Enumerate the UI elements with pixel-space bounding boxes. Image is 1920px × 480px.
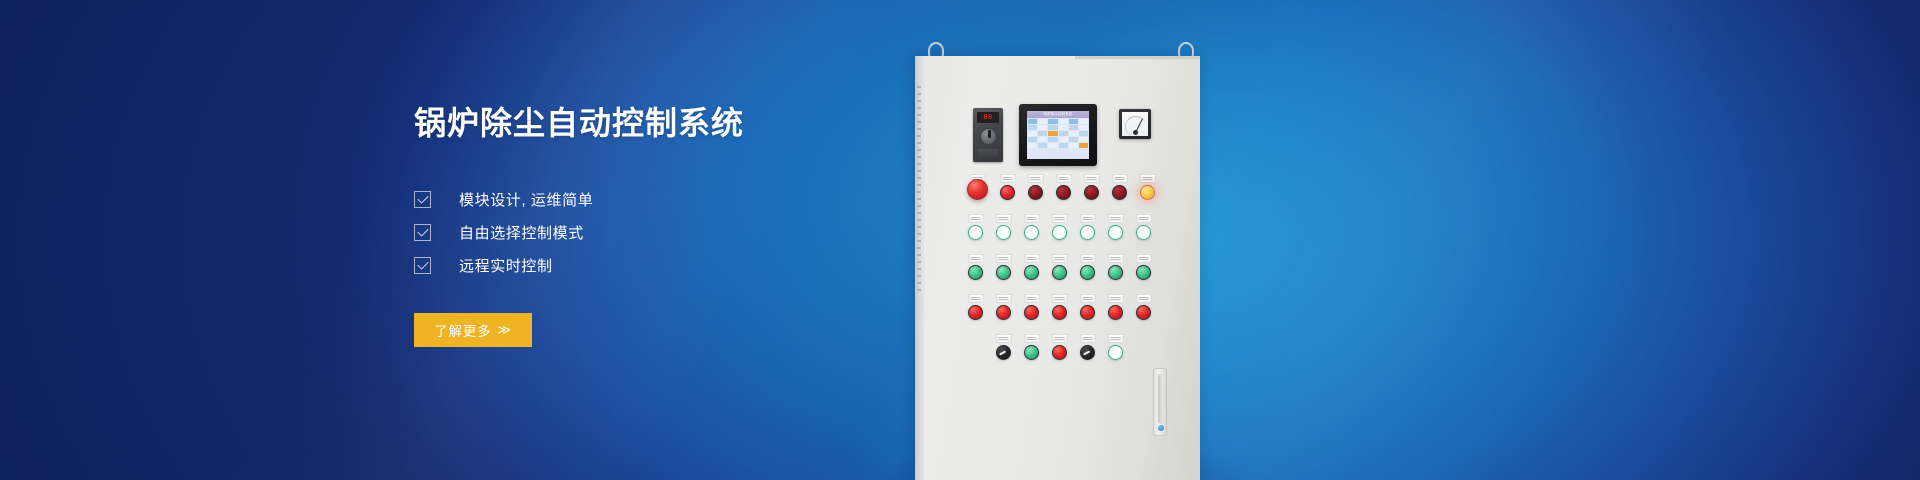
indicator-button[interactable] xyxy=(1047,334,1072,360)
indicator-button[interactable] xyxy=(1075,214,1100,240)
list-item: 远程实时控制 xyxy=(414,254,884,276)
hmi-table-cell xyxy=(1069,137,1078,142)
selector-switch[interactable] xyxy=(991,334,1016,360)
button-row-5 xyxy=(963,334,1169,360)
red-lamp-icon xyxy=(1080,305,1095,320)
hmi-screen-table xyxy=(1027,118,1089,159)
indicator-button[interactable] xyxy=(1103,294,1128,320)
cabinet-door-handle[interactable] xyxy=(1153,368,1167,436)
hmi-table-cell xyxy=(1059,131,1068,136)
hmi-table-cell xyxy=(1028,125,1037,130)
indicator-button[interactable] xyxy=(1019,334,1044,360)
dark-red-lamp-icon xyxy=(1028,185,1043,200)
controller-display: 88 xyxy=(977,112,999,123)
indicator-button[interactable] xyxy=(991,214,1016,240)
selector-knob-icon xyxy=(996,345,1011,360)
indicator-button[interactable] xyxy=(1075,254,1100,280)
green-lamp-icon xyxy=(1136,265,1151,280)
hmi-screen-title-bar: 锅炉除尘控制系统 xyxy=(1027,111,1089,118)
estop-mushroom-head-icon xyxy=(967,179,988,200)
button-label-tag xyxy=(1024,294,1039,303)
button-label-tag xyxy=(1140,174,1155,183)
button-label-tag xyxy=(1108,334,1123,343)
white-lamp-icon xyxy=(996,225,1011,240)
button-label-tag xyxy=(1024,334,1039,343)
hmi-screen: 锅炉除尘控制系统 xyxy=(1027,111,1089,159)
lock-icon[interactable] xyxy=(1158,425,1164,431)
button-label-tag xyxy=(1052,334,1067,343)
checkbox-icon xyxy=(414,191,431,208)
meter-hub xyxy=(1133,130,1138,135)
hero-banner: 锅炉除尘自动控制系统 模块设计, 运维简单 自由选择控制模式 远程实时控制 了解… xyxy=(0,0,1920,480)
hmi-table-cell xyxy=(1038,125,1047,130)
button-label-tag xyxy=(1080,214,1095,223)
hmi-table-cell xyxy=(1079,137,1088,142)
controller-terminal-block xyxy=(978,149,998,157)
handle-grip xyxy=(1158,374,1163,424)
hmi-table-cell xyxy=(1048,125,1057,130)
indicator-button[interactable] xyxy=(1079,174,1104,200)
hmi-table-cell xyxy=(1069,125,1078,130)
hmi-table-row xyxy=(1028,125,1088,130)
red-lamp-icon xyxy=(1052,305,1067,320)
button-label-tag xyxy=(1080,334,1095,343)
hmi-table-cell xyxy=(1028,119,1037,124)
hmi-table-cell xyxy=(1059,143,1068,148)
hmi-table-cell xyxy=(1079,125,1088,130)
button-label-tag xyxy=(1056,174,1071,183)
cabinet-hinge xyxy=(915,56,924,480)
hmi-screen-title: 锅炉除尘控制系统 xyxy=(1044,113,1073,116)
button-label-tag xyxy=(1080,294,1095,303)
button-label-tag xyxy=(996,254,1011,263)
hmi-table-cell xyxy=(1059,125,1068,130)
white-lamp-icon xyxy=(1052,225,1067,240)
button-row-1 xyxy=(963,174,1169,200)
hmi-table-cell xyxy=(1028,131,1037,136)
white-lamp-icon xyxy=(1024,225,1039,240)
indicator-button[interactable] xyxy=(1051,174,1076,200)
red-lamp-icon xyxy=(1000,185,1015,200)
selector-switch[interactable] xyxy=(1075,334,1100,360)
indicator-button[interactable] xyxy=(1107,174,1132,200)
button-label-tag xyxy=(1052,254,1067,263)
indicator-button[interactable] xyxy=(991,254,1016,280)
white-lamp-icon xyxy=(968,225,983,240)
hmi-table-cell xyxy=(1028,137,1037,142)
hmi-table-cell xyxy=(1038,131,1047,136)
indicator-button[interactable] xyxy=(963,294,988,320)
hmi-table-cell xyxy=(1048,137,1057,142)
button-label-tag xyxy=(1112,174,1127,183)
hmi-table-row xyxy=(1028,137,1088,142)
cabinet-body: 88 锅炉除尘控制系统 xyxy=(915,56,1200,480)
button-label-tag xyxy=(1136,214,1151,223)
hmi-table-row xyxy=(1028,119,1088,124)
indicator-button[interactable] xyxy=(1047,294,1072,320)
red-lamp-icon xyxy=(1108,305,1123,320)
indicator-button[interactable] xyxy=(1047,214,1072,240)
indicator-button[interactable] xyxy=(1019,254,1044,280)
checkbox-icon xyxy=(414,224,431,241)
indicator-button[interactable] xyxy=(991,294,1016,320)
hmi-table-cell xyxy=(1059,137,1068,142)
white-lamp-icon xyxy=(1080,225,1095,240)
hmi-table-cell xyxy=(1079,131,1088,136)
indicator-button[interactable] xyxy=(1131,294,1156,320)
white-lamp-icon xyxy=(1108,345,1123,360)
button-label-tag xyxy=(1024,214,1039,223)
digital-controller: 88 xyxy=(973,108,1003,162)
checkbox-icon xyxy=(414,257,431,274)
hmi-table-cell xyxy=(1048,119,1057,124)
button-label-tag xyxy=(1108,214,1123,223)
emergency-stop-button[interactable] xyxy=(963,174,992,200)
indicator-button[interactable] xyxy=(1103,334,1128,360)
feature-list: 模块设计, 运维简单 自由选择控制模式 远程实时控制 xyxy=(414,188,884,276)
hmi-table-cell xyxy=(1069,143,1078,148)
indicator-button[interactable] xyxy=(1019,214,1044,240)
feature-label: 自由选择控制模式 xyxy=(459,222,584,243)
button-label-tag xyxy=(1052,294,1067,303)
hmi-table-cell xyxy=(1069,131,1078,136)
red-lamp-icon xyxy=(996,305,1011,320)
hmi-table-cell xyxy=(1069,119,1078,124)
red-lamp-icon xyxy=(1052,345,1067,360)
button-label-tag xyxy=(1136,254,1151,263)
hmi-alarm-cell xyxy=(1048,131,1057,136)
controller-digits: 88 xyxy=(983,114,992,121)
button-label-tag xyxy=(1028,174,1043,183)
hinge-pin-detail xyxy=(917,86,921,296)
green-lamp-icon xyxy=(968,265,983,280)
button-label-tag xyxy=(1108,254,1123,263)
control-cabinet-image: 88 锅炉除尘控制系统 xyxy=(900,0,1230,480)
button-label-tag xyxy=(1000,174,1015,183)
hmi-table-row xyxy=(1028,143,1088,148)
button-label-tag xyxy=(996,294,1011,303)
button-label-tag xyxy=(968,294,983,303)
hmi-table-cell xyxy=(1079,119,1088,124)
indicator-button[interactable] xyxy=(1131,214,1156,240)
learn-more-label: 了解更多 xyxy=(434,320,491,340)
button-label-tag xyxy=(1052,214,1067,223)
meter-face xyxy=(1122,112,1148,136)
red-lamp-icon xyxy=(1136,305,1151,320)
button-label-tag xyxy=(1084,174,1099,183)
green-lamp-icon xyxy=(1052,265,1067,280)
button-grid xyxy=(963,174,1169,374)
green-lamp-icon xyxy=(1024,265,1039,280)
hmi-table-cell xyxy=(1048,143,1057,148)
indicator-button[interactable] xyxy=(1135,174,1160,200)
white-lamp-icon xyxy=(1108,225,1123,240)
indicator-button[interactable] xyxy=(963,214,988,240)
hmi-table-cell xyxy=(1038,137,1047,142)
dark-red-lamp-icon xyxy=(1112,185,1127,200)
chevron-right-icon: ≫ xyxy=(497,322,511,338)
button-row-3 xyxy=(963,254,1169,280)
green-lamp-icon xyxy=(1080,265,1095,280)
indicator-button[interactable] xyxy=(1103,254,1128,280)
instrument-row: 88 锅炉除尘控制系统 xyxy=(973,104,1178,166)
hmi-table-cell xyxy=(1038,143,1047,148)
red-lamp-icon xyxy=(968,305,983,320)
button-label-tag xyxy=(1080,254,1095,263)
feature-label: 远程实时控制 xyxy=(459,255,553,276)
button-row-4 xyxy=(963,294,1169,320)
button-label-tag xyxy=(996,334,1011,343)
cabinet-lid-seam xyxy=(1075,56,1200,59)
indicator-button[interactable] xyxy=(1131,254,1156,280)
selector-knob-icon xyxy=(1080,345,1095,360)
page-title: 锅炉除尘自动控制系统 xyxy=(414,104,884,142)
feature-label: 模块设计, 运维简单 xyxy=(459,189,593,210)
green-lamp-icon xyxy=(1108,265,1123,280)
hmi-table-row xyxy=(1028,131,1088,136)
list-item: 模块设计, 运维简单 xyxy=(414,188,884,210)
button-label-tag xyxy=(1024,254,1039,263)
hmi-touch-panel: 锅炉除尘控制系统 xyxy=(1019,104,1097,166)
hmi-table-cell xyxy=(1028,143,1037,148)
button-label-tag xyxy=(1108,294,1123,303)
button-row-2 xyxy=(963,214,1169,240)
indicator-button[interactable] xyxy=(1019,294,1044,320)
white-lamp-icon xyxy=(1136,225,1151,240)
indicator-button[interactable] xyxy=(1075,294,1100,320)
green-lamp-icon xyxy=(996,265,1011,280)
dark-red-lamp-icon xyxy=(1056,185,1071,200)
button-label-tag xyxy=(968,214,983,223)
red-lamp-icon xyxy=(1024,305,1039,320)
indicator-button[interactable] xyxy=(1023,174,1048,200)
dark-red-lamp-icon xyxy=(1084,185,1099,200)
indicator-button[interactable] xyxy=(995,174,1020,200)
button-label-tag xyxy=(996,214,1011,223)
indicator-button[interactable] xyxy=(1047,254,1072,280)
indicator-button[interactable] xyxy=(1103,214,1128,240)
hmi-table-cell xyxy=(1038,119,1047,124)
list-item: 自由选择控制模式 xyxy=(414,221,884,243)
green-lamp-icon xyxy=(1024,345,1039,360)
amber-lamp-icon xyxy=(1140,185,1155,200)
indicator-button[interactable] xyxy=(963,254,988,280)
hero-copy-block: 锅炉除尘自动控制系统 模块设计, 运维简单 自由选择控制模式 远程实时控制 了解… xyxy=(414,104,884,347)
analog-panel-meter xyxy=(1119,109,1151,139)
button-label-tag xyxy=(968,254,983,263)
hmi-alarm-cell xyxy=(1079,143,1088,148)
learn-more-button[interactable]: 了解更多 ≫ xyxy=(414,313,532,347)
hmi-table-cell xyxy=(1059,119,1068,124)
button-label-tag xyxy=(1136,294,1151,303)
controller-knob-icon xyxy=(980,128,997,145)
